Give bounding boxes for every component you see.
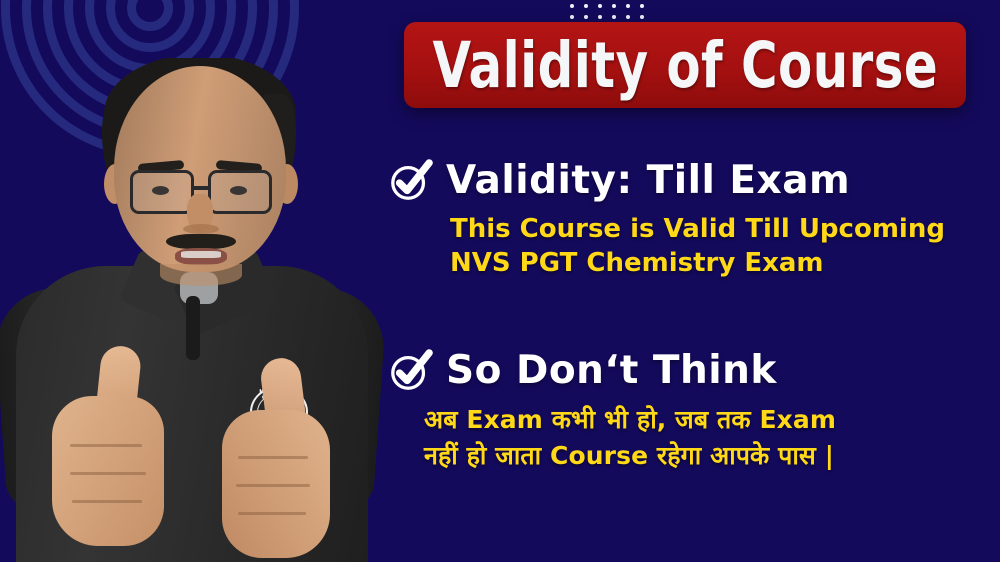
bullet-point-1: Validity: Till Exam This Course is Valid… <box>388 158 988 281</box>
shirt-placket <box>186 296 200 360</box>
bullet-2-subtext-line-2: नहीं हो जाता Course रहेगा आपके पास | <box>424 438 988 474</box>
page-title: Validity of Course <box>432 34 938 97</box>
grid-dot <box>640 15 644 19</box>
circled-check-icon <box>388 348 434 394</box>
bullet-1-heading: Validity: Till Exam <box>446 161 850 202</box>
grid-dot <box>570 15 574 19</box>
grid-dot <box>626 15 630 19</box>
chin <box>160 264 242 286</box>
grid-dot <box>598 15 602 19</box>
circled-check-icon <box>388 158 434 204</box>
grid-dot <box>640 4 644 8</box>
grid-dot <box>598 4 602 8</box>
bullet-point-2: So Don‘t Think अब Exam कभी भी हो, जब तक … <box>388 348 988 475</box>
grid-dot <box>612 15 616 19</box>
bullet-2-subtext-line-1: अब Exam कभी भी हो, जब तक Exam <box>424 402 988 438</box>
fist-left <box>52 396 164 546</box>
teeth <box>181 251 221 258</box>
thumbnail-slide: H M GAUR CLASSES HG Achievers Validity o… <box>0 0 1000 562</box>
eyeglasses-bridge <box>193 186 210 190</box>
bullet-1-subtext-line-1: This Course is Valid Till Upcoming <box>450 212 988 246</box>
bullet-1-headline-row: Validity: Till Exam <box>388 158 988 204</box>
eyeglasses-lens-left <box>130 170 194 214</box>
title-banner: Validity of Course <box>404 22 966 108</box>
bullet-1-subtext: This Course is Valid Till Upcoming NVS P… <box>388 212 988 281</box>
bullet-1-subtext-line-2: NVS PGT Chemistry Exam <box>450 246 988 280</box>
decor-ring <box>127 0 173 31</box>
bullet-2-heading: So Don‘t Think <box>446 351 777 392</box>
grid-dot <box>584 4 588 8</box>
grid-dot <box>570 4 574 8</box>
bullet-2-subtext: अब Exam कभी भी हो, जब तक Exam नहीं हो जा… <box>388 402 988 475</box>
grid-dot <box>584 15 588 19</box>
grid-dot <box>626 4 630 8</box>
presenter-photo: H M GAUR CLASSES HG Achievers <box>0 58 394 562</box>
decor-ring <box>106 0 194 52</box>
nose-shadow <box>183 224 219 234</box>
mustache <box>166 234 236 249</box>
fist-right <box>222 410 330 558</box>
eyeglasses-lens-right <box>208 170 272 214</box>
grid-dot <box>612 4 616 8</box>
bullet-2-headline-row: So Don‘t Think <box>388 348 988 394</box>
